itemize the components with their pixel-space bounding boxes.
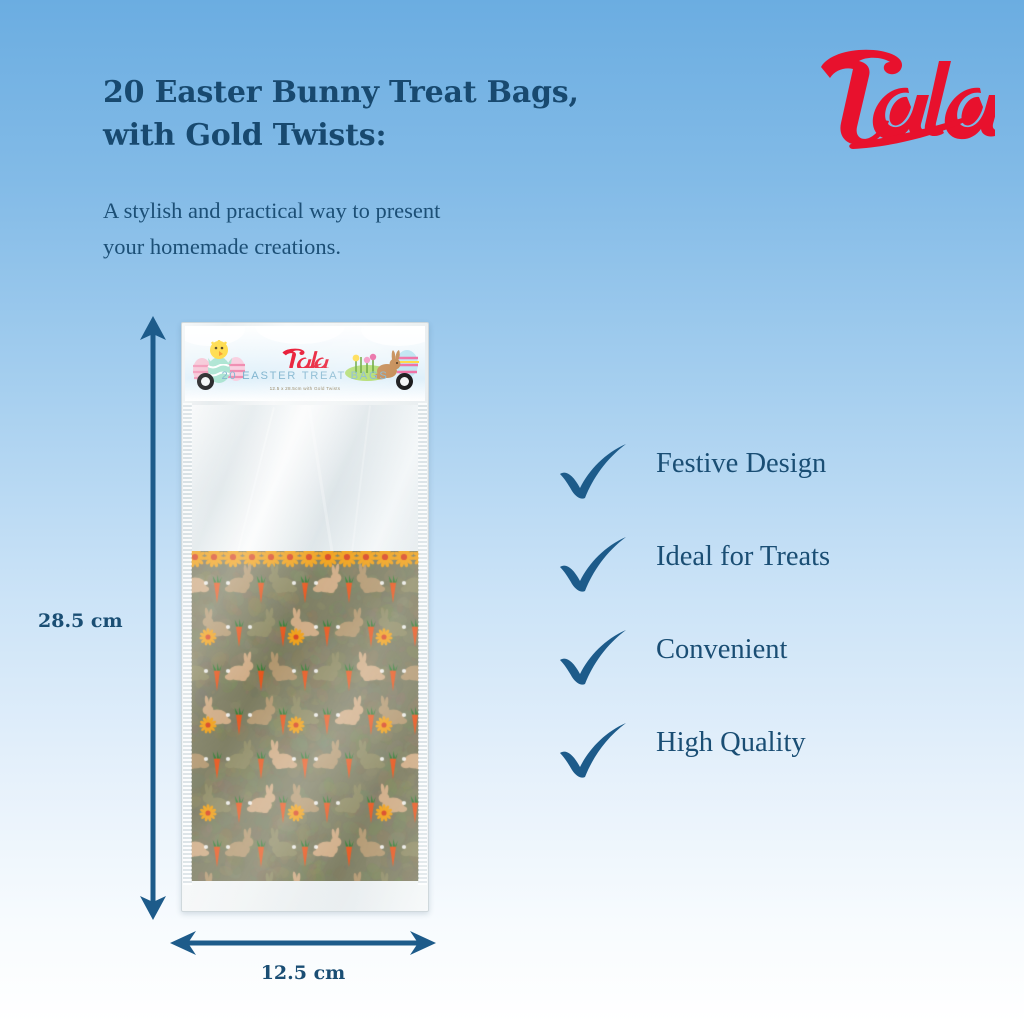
check-icon xyxy=(556,628,630,686)
page-subtitle-line-2: your homemade creations. xyxy=(103,229,683,265)
hang-hole-left xyxy=(197,373,214,390)
clear-bag-window xyxy=(191,405,419,553)
package-brand-logo xyxy=(279,348,331,368)
cellophane-sleeve: 20 EASTER TREAT BAGS 12.5 x 28.5cm with … xyxy=(181,322,429,912)
package-label-subtitle: 12.5 x 28.5cm with Gold Twists xyxy=(185,386,425,391)
page-subtitle-line-1: A stylish and practical way to present xyxy=(103,193,683,229)
package-header-card: 20 EASTER TREAT BAGS 12.5 x 28.5cm with … xyxy=(185,326,425,401)
feature-label: Ideal for Treats xyxy=(656,541,830,573)
feature-label: Festive Design xyxy=(656,448,826,480)
feature-item-high-quality: High Quality xyxy=(556,719,986,812)
check-icon xyxy=(556,442,630,500)
page-title: 20 Easter Bunny Treat Bags, with Gold Tw… xyxy=(103,72,703,157)
feature-label: High Quality xyxy=(656,727,806,759)
page-title-line-1: 20 Easter Bunny Treat Bags, xyxy=(103,72,703,115)
bunny-pattern-area xyxy=(191,551,419,881)
product-package-image: 20 EASTER TREAT BAGS 12.5 x 28.5cm with … xyxy=(181,322,429,912)
feature-item-convenient: Convenient xyxy=(556,626,986,719)
width-dimension-label: 12.5 cm xyxy=(168,962,438,984)
page-subtitle: A stylish and practical way to present y… xyxy=(103,193,683,266)
bag-seal-right xyxy=(418,403,427,885)
brand-logo xyxy=(805,45,995,150)
feature-item-festive-design: Festive Design xyxy=(556,440,986,533)
feature-list: Festive Design Ideal for Treats Convenie… xyxy=(556,440,986,812)
feature-item-ideal-for-treats: Ideal for Treats xyxy=(556,533,986,626)
check-icon xyxy=(556,721,630,779)
height-dimension-label: 28.5 cm xyxy=(38,610,138,632)
check-icon xyxy=(556,535,630,593)
package-label-title: 20 EASTER TREAT BAGS xyxy=(185,370,425,382)
page-title-line-2: with Gold Twists: xyxy=(103,115,703,158)
width-dimension-arrow xyxy=(168,925,438,967)
feature-label: Convenient xyxy=(656,634,787,666)
hang-hole-right xyxy=(396,373,413,390)
bag-seal-left xyxy=(183,403,192,885)
